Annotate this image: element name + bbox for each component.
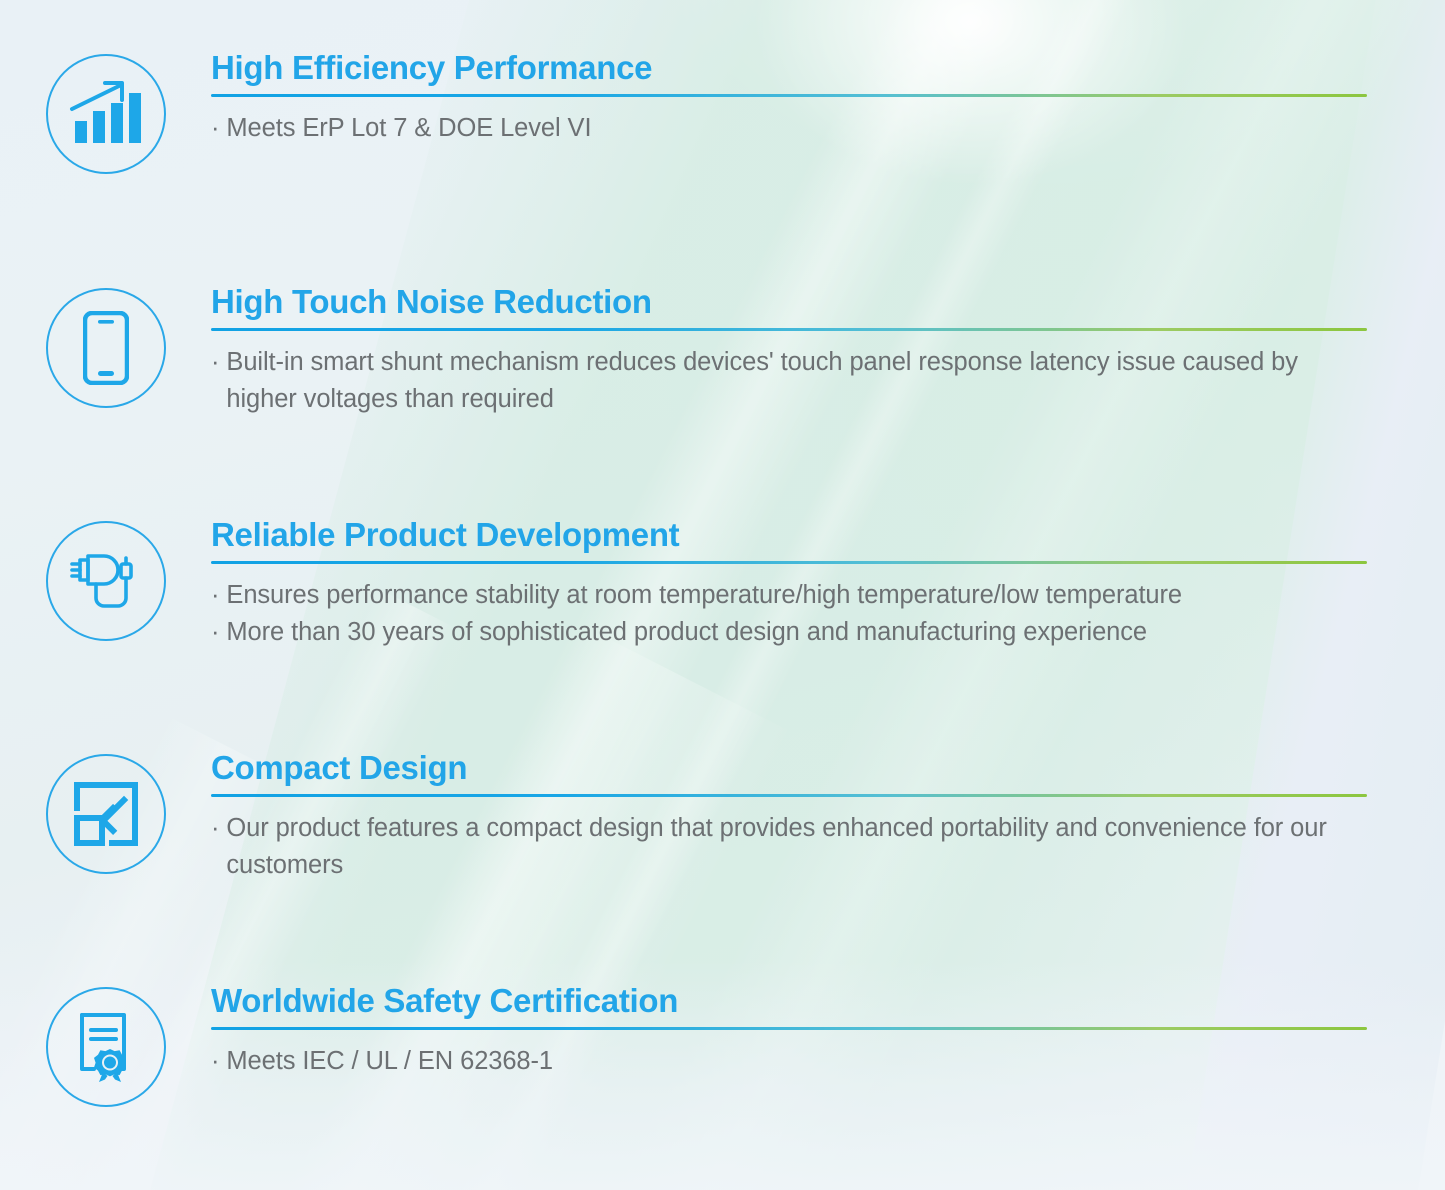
feature-divider xyxy=(211,328,1367,331)
list-item: · Built-in smart shunt mechanism reduces… xyxy=(211,344,1367,416)
bullet-text: Our product features a compact design th… xyxy=(226,810,1367,882)
feature-item-high-touch-noise-reduction: High Touch Noise Reduction · Built-in sm… xyxy=(0,284,1445,417)
feature-title: Reliable Product Development xyxy=(211,517,1367,553)
bullet-marker: · xyxy=(211,1043,219,1079)
feature-icon-cell xyxy=(0,284,211,408)
smartphone-icon xyxy=(46,288,166,408)
feature-title: High Efficiency Performance xyxy=(211,50,1367,86)
list-item: · More than 30 years of sophisticated pr… xyxy=(211,614,1367,650)
bullet-marker: · xyxy=(211,110,219,146)
bullet-marker: · xyxy=(211,577,219,613)
compact-resize-icon xyxy=(46,754,166,874)
list-item: · Meets IEC / UL / EN 62368-1 xyxy=(211,1043,1367,1079)
feature-text-cell: Compact Design · Our product features a … xyxy=(211,750,1445,883)
list-item: · Our product features a compact design … xyxy=(211,810,1367,882)
feature-text-cell: Worldwide Safety Certification · Meets I… xyxy=(211,983,1445,1080)
feature-icon-cell xyxy=(0,983,211,1107)
feature-title: Compact Design xyxy=(211,750,1367,786)
bullet-marker: · xyxy=(211,614,219,650)
feature-item-reliable-product-development: Reliable Product Development · Ensures p… xyxy=(0,517,1445,650)
feature-poster: High Efficiency Performance · Meets ErP … xyxy=(0,0,1445,1190)
feature-bullet-list: · Meets IEC / UL / EN 62368-1 xyxy=(211,1043,1367,1079)
bullet-text: Ensures performance stability at room te… xyxy=(226,577,1367,613)
bullet-text: Meets ErP Lot 7 & DOE Level VI xyxy=(226,110,1367,146)
feature-item-high-efficiency-performance: High Efficiency Performance · Meets ErP … xyxy=(0,50,1445,174)
feature-bullet-list: · Built-in smart shunt mechanism reduces… xyxy=(211,344,1367,416)
list-item: · Ensures performance stability at room … xyxy=(211,577,1367,613)
bullet-marker: · xyxy=(211,810,219,846)
bar-chart-growth-icon xyxy=(46,54,166,174)
feature-bullet-list: · Meets ErP Lot 7 & DOE Level VI xyxy=(211,110,1367,146)
bullet-text: Meets IEC / UL / EN 62368-1 xyxy=(226,1043,1367,1079)
feature-divider xyxy=(211,94,1367,97)
bullet-marker: · xyxy=(211,344,219,380)
feature-text-cell: High Touch Noise Reduction · Built-in sm… xyxy=(211,284,1445,417)
list-item: · Meets ErP Lot 7 & DOE Level VI xyxy=(211,110,1367,146)
bullet-text: Built-in smart shunt mechanism reduces d… xyxy=(226,344,1367,416)
feature-title: High Touch Noise Reduction xyxy=(211,284,1367,320)
feature-icon-cell xyxy=(0,517,211,641)
feature-icon-cell xyxy=(0,50,211,174)
feature-text-cell: Reliable Product Development · Ensures p… xyxy=(211,517,1445,650)
feature-title: Worldwide Safety Certification xyxy=(211,983,1367,1019)
feature-item-worldwide-safety-certification: Worldwide Safety Certification · Meets I… xyxy=(0,983,1445,1107)
feature-bullet-list: · Ensures performance stability at room … xyxy=(211,577,1367,649)
power-adapter-icon xyxy=(46,521,166,641)
feature-item-compact-design: Compact Design · Our product features a … xyxy=(0,750,1445,883)
feature-divider xyxy=(211,561,1367,564)
feature-text-cell: High Efficiency Performance · Meets ErP … xyxy=(211,50,1445,147)
feature-bullet-list: · Our product features a compact design … xyxy=(211,810,1367,882)
certificate-seal-icon xyxy=(46,987,166,1107)
feature-divider xyxy=(211,1027,1367,1030)
bullet-text: More than 30 years of sophisticated prod… xyxy=(226,614,1367,650)
feature-icon-cell xyxy=(0,750,211,874)
feature-divider xyxy=(211,794,1367,797)
